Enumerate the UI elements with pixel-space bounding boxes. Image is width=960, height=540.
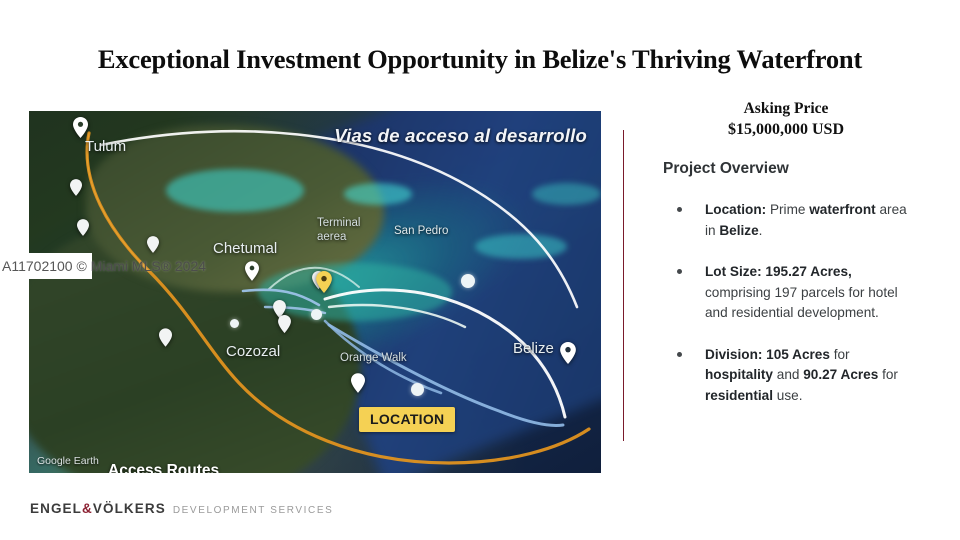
asking-price-value: $15,000,000 USD xyxy=(640,119,932,141)
map-label-orange-walk: Orange Walk xyxy=(340,352,407,364)
map-pin-belize[interactable] xyxy=(560,342,575,363)
asking-price-label: Asking Price xyxy=(640,98,932,119)
logo-ampersand: & xyxy=(82,501,93,516)
map-heading: Vias de acceso al desarrollo xyxy=(334,125,587,147)
map-label-chetumal: Chetumal xyxy=(213,240,277,257)
legend-title: Access Routes xyxy=(108,462,219,473)
map-image[interactable]: Vias de acceso al desarrollo Tulum Chetu… xyxy=(29,111,601,473)
location-badge[interactable]: LOCATION xyxy=(359,407,455,432)
map-pin-mid-2[interactable] xyxy=(278,315,293,336)
page-title: Exceptional Investment Opportunity in Be… xyxy=(0,44,960,75)
map-pin-north-3[interactable] xyxy=(147,236,162,257)
map-label-san-pedro: San Pedro xyxy=(394,225,448,237)
map-pin-tulum[interactable] xyxy=(73,117,88,138)
asking-price-block: Asking Price $15,000,000 USD xyxy=(640,98,932,141)
list-item: Location: Prime waterfront area in Beliz… xyxy=(663,200,918,241)
bullet-icon xyxy=(677,352,682,357)
google-earth-attribution: Google Earth xyxy=(37,455,99,467)
bullet-text-lot-size: Lot Size: 195.27 Acres, comprising 197 p… xyxy=(705,262,918,324)
logo-subtitle: DEVELOPMENT SERVICES xyxy=(173,505,334,516)
bullet-text-location: Location: Prime waterfront area in Beliz… xyxy=(705,200,918,241)
mls-watermark: A11702100 © Miami MLS® 2024 xyxy=(2,258,206,274)
slide-canvas: Exceptional Investment Opportunity in Be… xyxy=(0,0,960,540)
map-waypoint-2[interactable] xyxy=(461,274,475,288)
map-pin-orange-walk[interactable] xyxy=(351,373,366,394)
map-waypoint-3[interactable] xyxy=(411,383,424,396)
vertical-divider xyxy=(623,130,624,441)
map-routes-svg xyxy=(29,111,601,473)
project-overview-bullets: Location: Prime waterfront area in Beliz… xyxy=(663,200,918,427)
list-item: Division: 105 Acres for hospitality and … xyxy=(663,345,918,407)
bullet-icon xyxy=(677,269,682,274)
project-overview-title: Project Overview xyxy=(663,160,789,178)
map-pin-chetumal[interactable] xyxy=(245,261,260,282)
logo-brand-first: ENGEL xyxy=(30,501,82,516)
map-pin-north-2[interactable] xyxy=(77,219,92,240)
map-pin-location-marker[interactable] xyxy=(316,271,331,292)
bullet-icon xyxy=(677,207,682,212)
map-label-belize: Belize xyxy=(513,340,554,357)
map-waypoint-1[interactable] xyxy=(311,309,322,320)
engel-volkers-logo: ENGEL&VÖLKERSDEVELOPMENT SERVICES xyxy=(30,500,333,518)
map-label-terminal-line2: aerea xyxy=(317,231,346,243)
map-waypoint-4[interactable] xyxy=(230,319,239,328)
map-label-cozozal: Cozozal xyxy=(226,343,280,360)
list-item: Lot Size: 195.27 Acres, comprising 197 p… xyxy=(663,262,918,324)
logo-brand-second: VÖLKERS xyxy=(93,501,166,516)
bullet-text-division: Division: 105 Acres for hospitality and … xyxy=(705,345,918,407)
map-pin-west[interactable] xyxy=(159,328,174,349)
map-label-terminal-line1: Terminal xyxy=(317,217,360,229)
map-label-tulum: Tulum xyxy=(85,138,126,155)
map-pin-north-1[interactable] xyxy=(70,179,85,200)
